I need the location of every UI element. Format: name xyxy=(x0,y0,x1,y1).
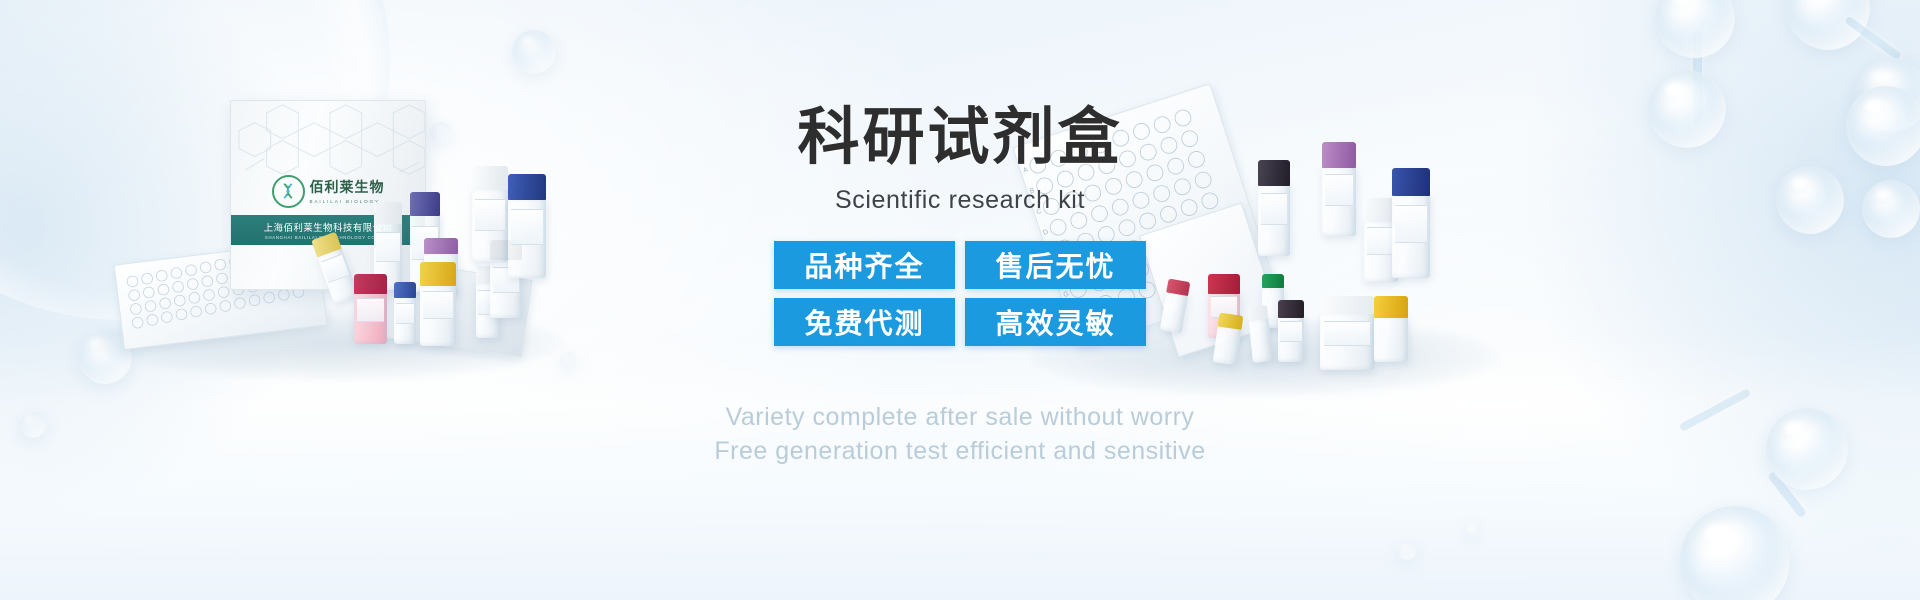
molecule-bubble xyxy=(1648,70,1726,148)
reagent-vial xyxy=(420,262,456,346)
banner-tagline: Variety complete after sale without worr… xyxy=(640,400,1280,468)
reagent-vial xyxy=(472,166,508,262)
brand-logo-text: 佰利莱生物 BAILILAI BIOLOGY xyxy=(310,179,385,205)
dna-helix-icon xyxy=(272,175,305,208)
banner-subtitle: Scientific research kit xyxy=(640,186,1280,215)
molecule-bubble xyxy=(1398,542,1416,560)
tagline-line-1: Variety complete after sale without worr… xyxy=(640,400,1280,434)
molecule-bubble xyxy=(20,412,46,438)
left-product-photo-group: 佰利莱生物 BAILILAI BIOLOGY 上海佰利莱生物科技有限公司 SHA… xyxy=(108,92,578,392)
molecule-bubble xyxy=(1776,166,1844,234)
reagent-vial xyxy=(1278,300,1304,362)
tagline-line-2: Free generation test efficient and sensi… xyxy=(640,434,1280,468)
banner-title: 科研试剂盒 xyxy=(640,104,1280,170)
feature-badge-aftersale[interactable]: 售后无忧 xyxy=(965,241,1146,289)
feature-badge-variety[interactable]: 品种齐全 xyxy=(774,241,955,289)
molecule-bubble xyxy=(1862,180,1920,238)
molecule-bubble xyxy=(1466,523,1478,535)
reagent-vial xyxy=(508,174,546,278)
reagent-vial xyxy=(394,282,416,344)
banner-copy: 科研试剂盒 Scientific research kit 品种齐全 售后无忧 … xyxy=(640,104,1280,468)
promo-banner: 佰利莱生物 BAILILAI BIOLOGY 上海佰利莱生物科技有限公司 SHA… xyxy=(0,0,1920,600)
feature-badge-list: 品种齐全 售后无忧 免费代测 高效灵敏 xyxy=(774,241,1146,346)
reagent-vial xyxy=(1320,296,1374,370)
reagent-vial xyxy=(1322,142,1356,236)
brand-name-cn: 佰利莱生物 xyxy=(310,180,385,196)
reagent-vial xyxy=(354,274,387,344)
reagent-vial xyxy=(1392,168,1430,278)
molecule-bubble xyxy=(1846,86,1920,166)
molecule-bubble xyxy=(512,30,556,74)
molecule-bubble xyxy=(1766,408,1848,490)
reagent-vial xyxy=(1374,296,1408,362)
feature-badge-free-test[interactable]: 免费代测 xyxy=(774,298,955,346)
feature-badge-sensitive[interactable]: 高效灵敏 xyxy=(965,298,1146,346)
